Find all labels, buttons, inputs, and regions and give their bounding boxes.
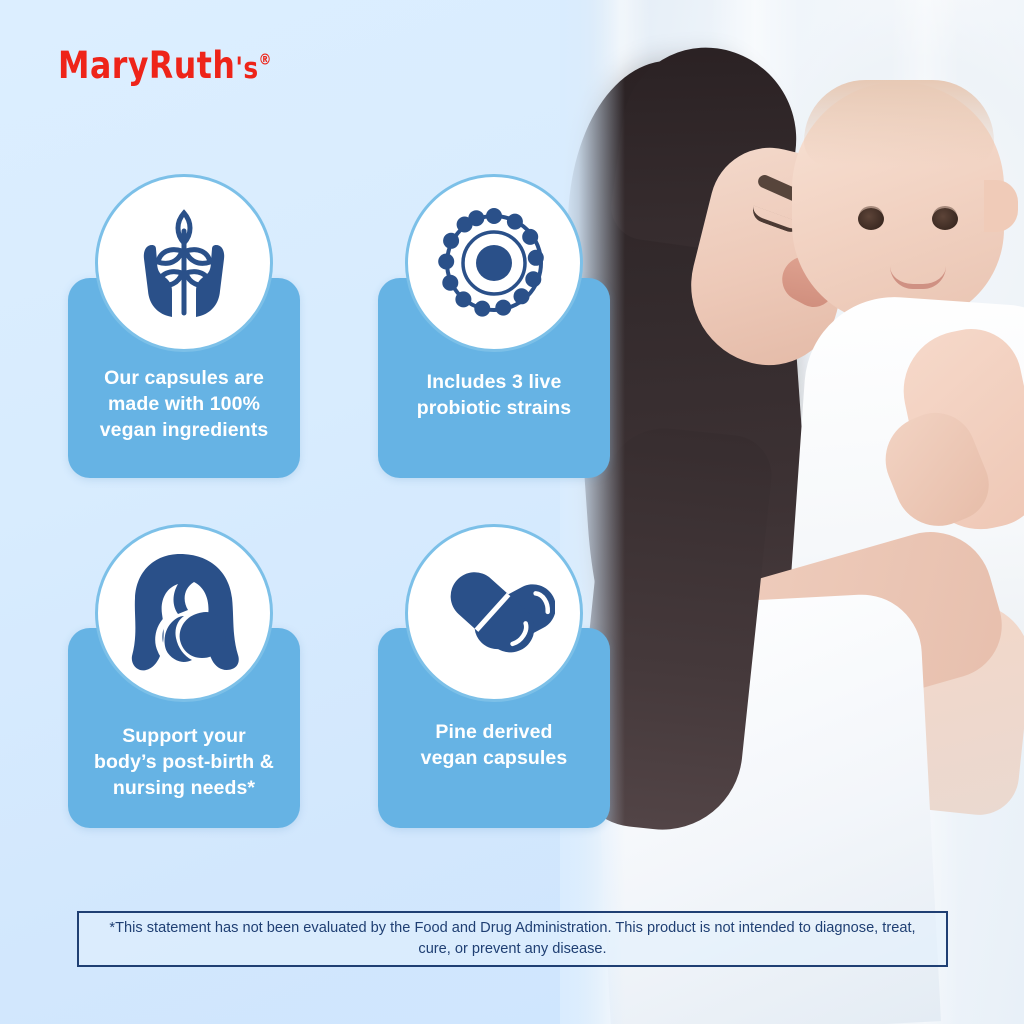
fda-disclaimer-box: *This statement has not been evaluated b… [77, 911, 948, 967]
logo-text-ruth: Ruth [149, 44, 235, 87]
caption-line: body’s post-birth & [78, 750, 290, 776]
icon-circle [405, 174, 583, 352]
card-caption: Includes 3 live probiotic strains [388, 370, 600, 422]
feature-card-probiotic: Includes 3 live probiotic strains [378, 278, 610, 478]
feature-card-vegan: Our capsules are made with 100% vegan in… [68, 278, 300, 478]
caption-line: vegan ingredients [78, 418, 290, 444]
caption-line: Includes 3 live [388, 370, 600, 396]
caption-line: vegan capsules [388, 746, 600, 772]
registered-trademark-icon: ® [259, 51, 272, 69]
caption-line: Support your [78, 724, 290, 750]
mother-nursing-baby-icon [122, 550, 246, 676]
caption-line: nursing needs* [78, 776, 290, 802]
mother-and-baby-photo [560, 0, 1024, 1024]
icon-circle [95, 174, 273, 352]
card-caption: Support your body’s post-birth & nursing… [78, 724, 290, 802]
feature-card-capsules: Pine derived vegan capsules [378, 628, 610, 828]
caption-line: probiotic strains [388, 396, 600, 422]
logo-text-s: 's [235, 51, 258, 85]
card-caption: Our capsules are made with 100% vegan in… [78, 366, 290, 444]
icon-circle [405, 524, 583, 702]
infographic-canvas: MaryRuth's® [0, 0, 1024, 1024]
card-caption: Pine derived vegan capsules [388, 720, 600, 772]
caption-line: Pine derived [388, 720, 600, 746]
photo-edge-fade [560, 0, 1024, 1024]
caption-line: Our capsules are [78, 366, 290, 392]
fda-disclaimer-text: *This statement has not been evaluated b… [93, 918, 932, 959]
feature-card-postbirth: Support your body’s post-birth & nursing… [68, 628, 300, 828]
logo-text-mary: Mary [58, 44, 149, 87]
icon-circle [95, 524, 273, 702]
two-capsules-icon [433, 555, 555, 671]
brand-logo: MaryRuth's® [58, 44, 272, 87]
probiotic-cell-icon [435, 204, 553, 322]
caption-line: made with 100% [78, 392, 290, 418]
hands-holding-wheat-icon [128, 205, 240, 321]
